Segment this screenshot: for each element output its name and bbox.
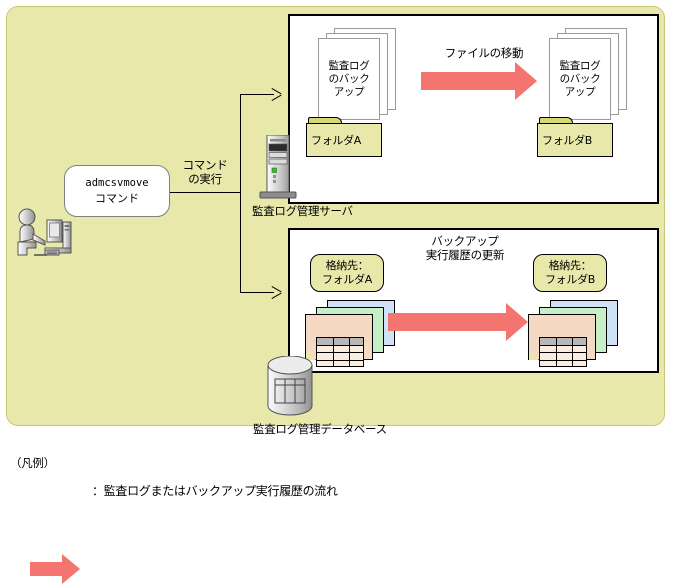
arrow-head	[62, 554, 80, 584]
callout-command-suffix: コマンド	[95, 191, 139, 206]
callout-command-name: admcsvmove	[85, 176, 148, 191]
source-document-stack: 監査ログ のバック アップ	[318, 28, 402, 128]
arrow-head	[515, 62, 537, 100]
target-record-stack	[528, 300, 620, 365]
pill-label-line1: 格納先：	[326, 259, 369, 273]
file-move-arrow	[421, 62, 539, 100]
source-record-stack	[305, 300, 397, 365]
document-label-line3: アップ	[334, 86, 365, 99]
folder-label: フォルダB	[537, 123, 613, 157]
target-document-stack: 監査ログ のバック アップ	[549, 28, 633, 128]
tower-server-icon	[256, 135, 300, 201]
pill-label-line1: 格納先：	[549, 259, 592, 273]
caption-line1: バックアップ	[400, 234, 530, 248]
target-folder-b: フォルダB	[537, 117, 613, 157]
arrow-head	[506, 303, 528, 341]
server-label: 監査ログ管理サーバ	[252, 203, 353, 219]
connector-branch-lower	[240, 292, 274, 293]
arrow-shaft	[30, 562, 64, 576]
file-move-caption: ファイルの移動	[424, 46, 544, 60]
connector-branch-upper	[240, 94, 274, 95]
document-label: 監査ログ のバック アップ	[318, 38, 380, 120]
record-card-peach	[305, 314, 373, 360]
database-label: 監査ログ管理データベース	[253, 421, 387, 437]
source-storage-pill: 格納先： フォルダA	[310, 254, 384, 292]
connector-arrowhead-lower	[272, 286, 282, 298]
command-exec-label-line1: コマンド	[172, 158, 238, 172]
document-label-line3: アップ	[565, 86, 596, 99]
caption-line2: 実行履歴の更新	[400, 248, 530, 262]
backup-history-caption: バックアップ 実行履歴の更新	[400, 234, 530, 262]
document-label-line2: のバック	[329, 73, 370, 86]
document-label-line1: 監査ログ	[329, 60, 370, 73]
command-callout: admcsvmove コマンド	[64, 165, 170, 217]
database-cylinder-icon	[262, 356, 318, 418]
connector-trunk-vertical	[240, 94, 241, 292]
connector-arrowhead-upper	[272, 88, 282, 100]
target-storage-pill: 格納先： フォルダB	[533, 254, 607, 292]
person-at-computer-icon	[14, 208, 76, 260]
arrow-shaft	[421, 72, 517, 90]
record-card-peach	[528, 314, 596, 360]
document-label-line2: のバック	[560, 73, 601, 86]
document-label: 監査ログ のバック アップ	[549, 38, 611, 120]
record-table-icon	[316, 337, 364, 367]
document-label-line1: 監査ログ	[560, 60, 601, 73]
legend-description: ：監査ログまたはバックアップ実行履歴の流れ	[92, 482, 338, 499]
pill-label-line2: フォルダA	[322, 273, 372, 287]
backup-history-update-arrow	[388, 303, 530, 341]
source-folder-a: フォルダA	[306, 117, 382, 157]
folder-label: フォルダA	[306, 123, 382, 157]
record-corner-fold	[529, 350, 539, 360]
connector-from-callout	[170, 192, 241, 193]
record-table-icon	[539, 337, 587, 367]
legend-title: （凡例）	[10, 455, 55, 471]
legend-arrow-icon	[30, 554, 90, 584]
command-exec-label-line2: の実行	[172, 172, 238, 186]
command-exec-label: コマンド の実行	[172, 158, 238, 186]
pill-label-line2: フォルダB	[545, 273, 595, 287]
arrow-shaft	[388, 313, 508, 331]
